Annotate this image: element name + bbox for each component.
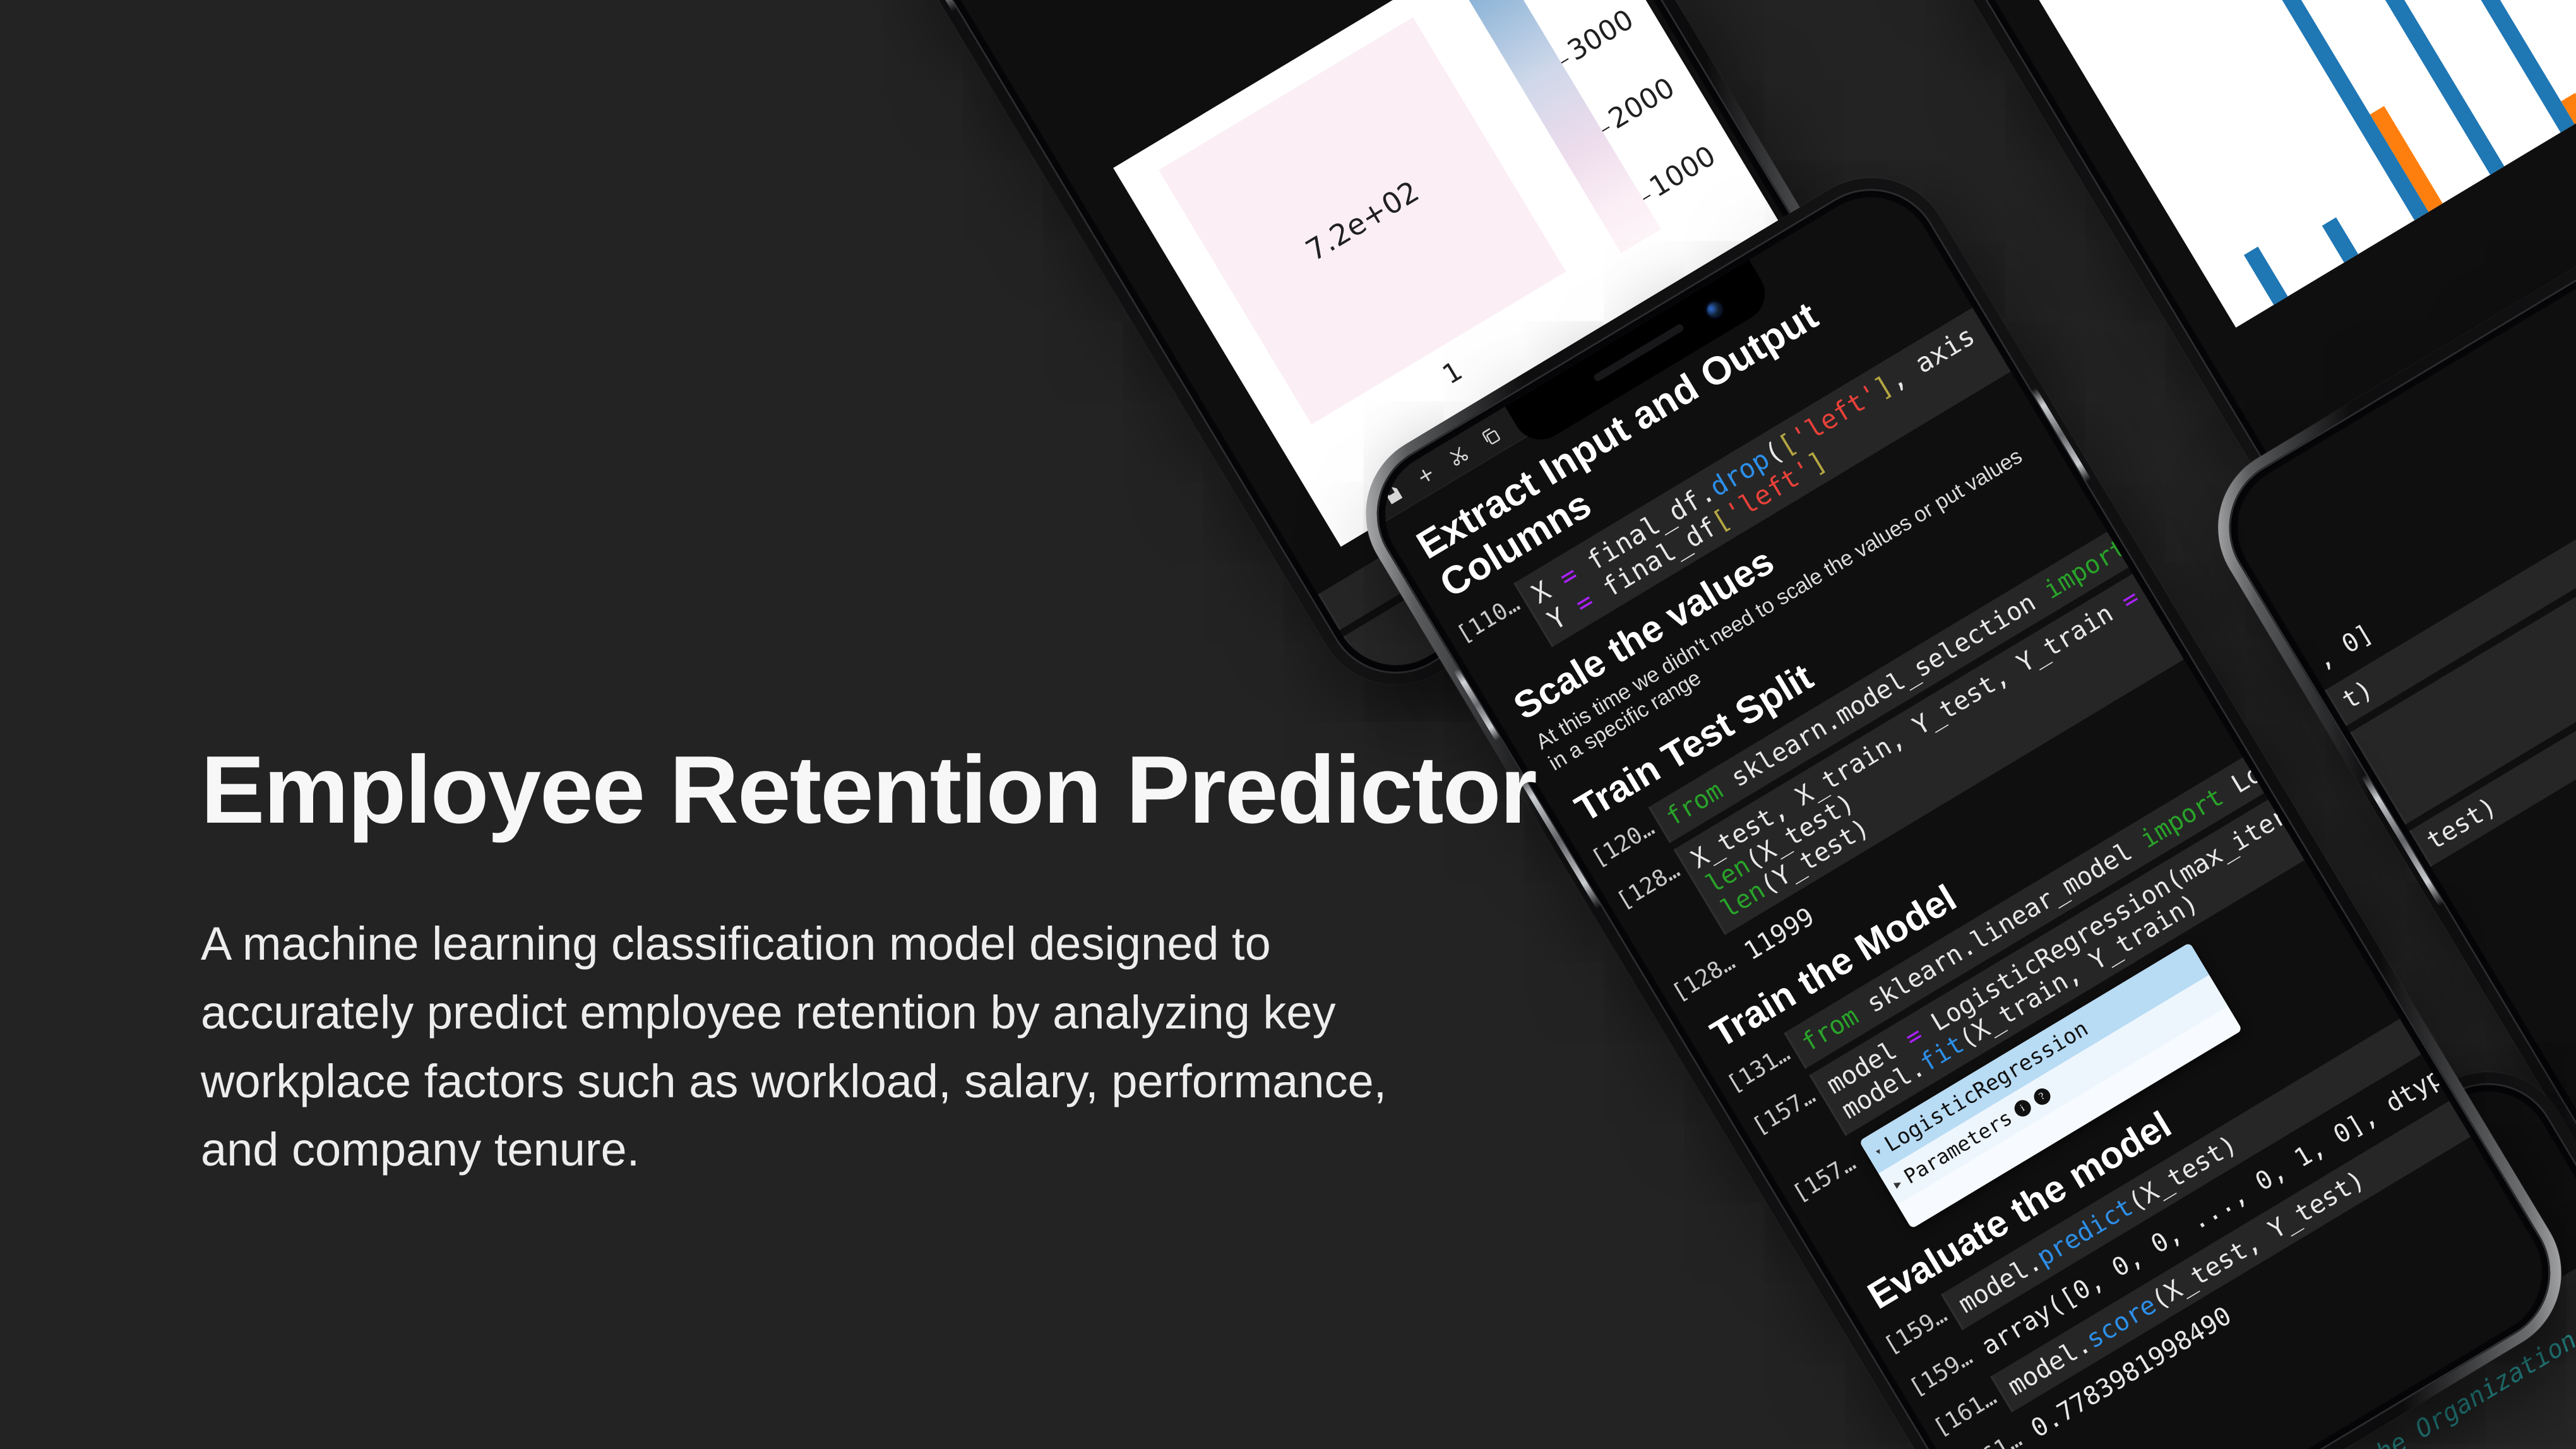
colorbar-tick-label: 2000 [1603,71,1680,135]
copy-icon[interactable] [1478,424,1504,450]
bar-series-0 [2244,247,2288,305]
heatmap-xtick-label: 1 [1437,355,1467,390]
help-icon[interactable]: ? [2031,1085,2054,1108]
colorbar-tick-label: 3000 [1562,3,1639,67]
add-cell-icon[interactable] [1413,462,1439,488]
colorbar-tick-mark [1602,126,1609,131]
colorbar-tick-mark [1643,194,1650,200]
chevron-right-icon[interactable]: ▶ [1891,1176,1904,1191]
page-title: Employee Retention Predictor [201,742,1577,838]
heatmap-cell-value: 7.2e+02 [1159,17,1566,424]
colorbar-tick-label: 1000 [1644,140,1721,203]
colorbar-tick-mark [1561,58,1568,63]
page-subtitle: A machine learning classification model … [201,910,1464,1184]
poster-canvas: 7.2e+02 1 4000 3000 2000 1000 [0,0,2576,1449]
chevron-down-icon[interactable]: ▾ [1872,1144,1885,1159]
info-icon[interactable]: i [2012,1097,2034,1120]
feature-bar-chart-figure: 0 1 [2008,0,2576,328]
bar-series-0 [2322,217,2358,263]
front-camera [1705,300,1724,319]
bar-series-0 [2200,0,2428,220]
side-rail-left [868,0,958,12]
cut-icon[interactable] [1445,443,1471,469]
save-icon[interactable] [1380,482,1406,508]
hero-text-block: Employee Retention Predictor A machine l… [201,742,1577,1184]
